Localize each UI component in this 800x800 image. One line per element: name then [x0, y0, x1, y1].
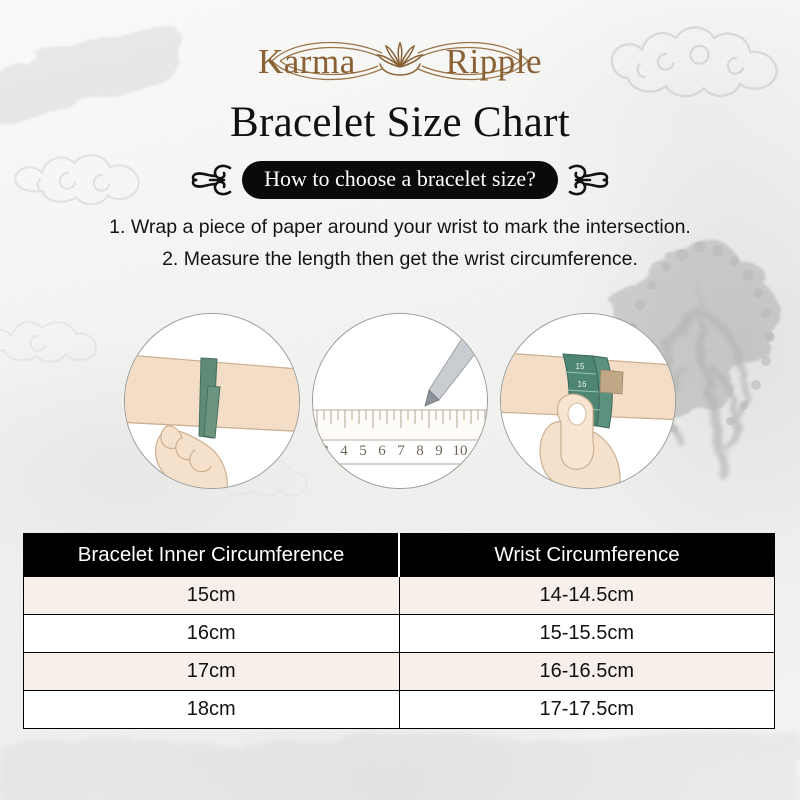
- brand-name-right: Ripple: [446, 42, 542, 81]
- instruction-step-1: 1. Wrap a piece of paper around your wri…: [0, 212, 800, 244]
- brand-name-left: Karma: [258, 42, 356, 81]
- cell-bracelet-inner-circumference: 16cm: [24, 615, 400, 653]
- ruler-tick-label: 10: [453, 443, 468, 459]
- ruler-tick-label: 9: [435, 443, 443, 459]
- table-header-row: Bracelet Inner Circumference Wrist Circu…: [24, 534, 775, 577]
- illustration-measuring-tape-on-wrist: 15 16 17: [500, 313, 676, 489]
- tape-label: 16: [578, 380, 587, 389]
- cell-wrist-circumference: 16-16.5cm: [399, 653, 775, 691]
- cell-bracelet-inner-circumference: 18cm: [24, 691, 400, 729]
- table-header: Bracelet Inner Circumference Wrist Circu…: [24, 534, 775, 577]
- cell-wrist-circumference: 17-17.5cm: [399, 691, 775, 729]
- page-title: Bracelet Size Chart: [0, 98, 800, 147]
- size-chart-table: Bracelet Inner Circumference Wrist Circu…: [23, 533, 775, 729]
- ruler-tick-label: 11: [474, 443, 488, 459]
- cell-wrist-circumference: 14-14.5cm: [399, 577, 775, 615]
- table-row: 16cm 15-15.5cm: [24, 615, 775, 653]
- tape-label: 15: [576, 362, 585, 371]
- scroll-flourish-right-icon: [566, 160, 610, 200]
- table-body: 15cm 14-14.5cm 16cm 15-15.5cm 17cm 16-16…: [24, 577, 775, 729]
- illustration-wrap-paper-around-wrist: [124, 313, 300, 489]
- ruler-tick-label: 8: [416, 443, 424, 459]
- cell-bracelet-inner-circumference: 17cm: [24, 653, 400, 691]
- column-header-bracelet-inner-circumference: Bracelet Inner Circumference: [24, 534, 400, 577]
- ruler-tick-label: 5: [359, 443, 367, 459]
- ruler-tick-label: 7: [397, 443, 405, 459]
- illustration-row: 3 4 5 6 7 8 9 10 11 12: [0, 312, 800, 490]
- table-row: 17cm 16-16.5cm: [24, 653, 775, 691]
- how-to-badge-row: How to choose a bracelet size?: [0, 160, 800, 200]
- lotus-flower-icon: [378, 43, 422, 75]
- table-row: 15cm 14-14.5cm: [24, 577, 775, 615]
- ruler-tick-label: 3: [321, 443, 329, 459]
- size-chart-page: Karma Ripple Bracelet Size Chart How to …: [0, 0, 800, 800]
- ruler-tick-label: 4: [340, 443, 348, 459]
- ruler-tick-label: 6: [378, 443, 386, 459]
- scroll-flourish-left-icon: [190, 160, 234, 200]
- instruction-steps: 1. Wrap a piece of paper around your wri…: [0, 212, 800, 275]
- cell-bracelet-inner-circumference: 15cm: [24, 577, 400, 615]
- how-to-badge: How to choose a bracelet size?: [242, 161, 558, 199]
- instruction-step-2: 2. Measure the length then get the wrist…: [0, 244, 800, 276]
- illustration-measure-with-ruler: 3 4 5 6 7 8 9 10 11 12: [312, 313, 488, 489]
- brand-logo: Karma Ripple: [0, 32, 800, 86]
- cell-wrist-circumference: 15-15.5cm: [399, 615, 775, 653]
- brand-logo-svg: Karma Ripple: [250, 31, 550, 87]
- column-header-wrist-circumference: Wrist Circumference: [399, 534, 775, 577]
- table-row: 18cm 17-17.5cm: [24, 691, 775, 729]
- ruler-tick-labels: 3 4 5 6 7 8 9 10 11 12: [321, 443, 488, 459]
